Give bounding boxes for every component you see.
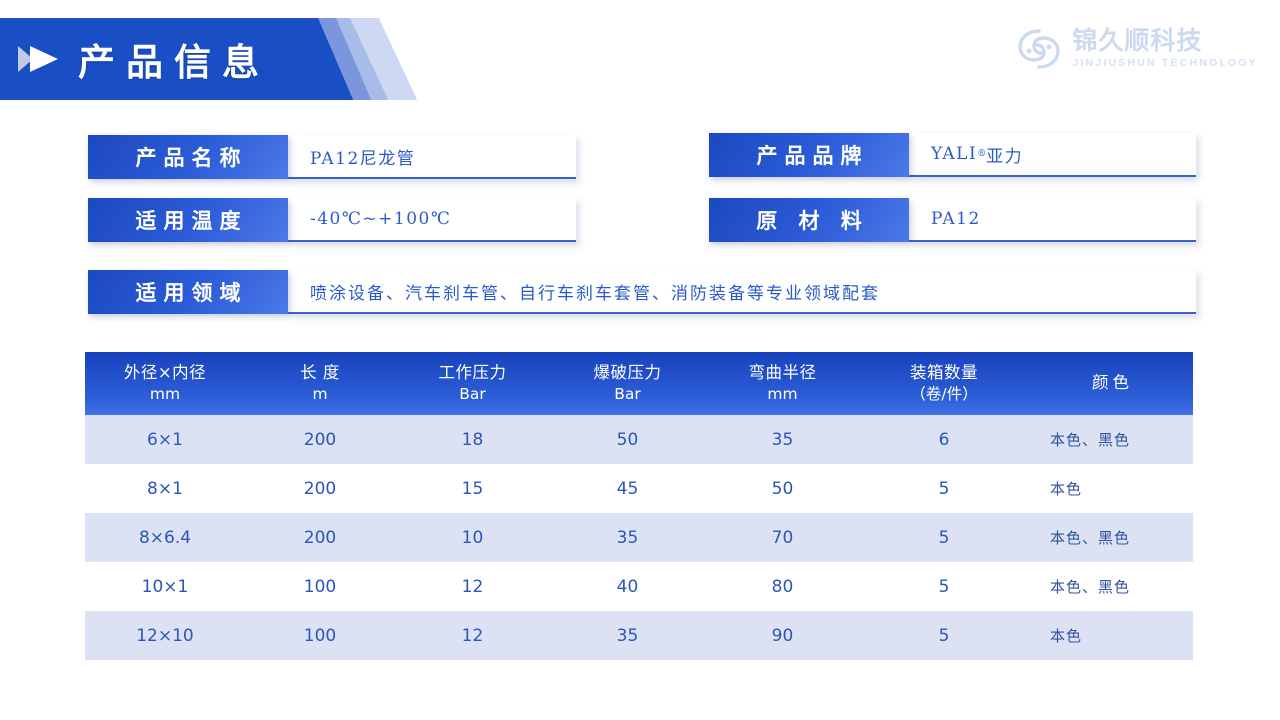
column-header-bend-radius: 弯曲半径 mm [705, 352, 860, 415]
column-header-unit: mm [85, 384, 245, 405]
cell-packing-quantity: 5 [860, 562, 1028, 611]
cell-packing-quantity: 5 [860, 611, 1028, 660]
company-logo: 锦久顺科技 JINJIUSHUN TECHNOLOGY [1016, 26, 1258, 72]
play-triangle-icon [16, 43, 64, 75]
cell-working-pressure: 12 [395, 611, 550, 660]
field-raw-material: 原 材 料 PA12 [709, 198, 1196, 242]
cell-color: 本色 [1028, 611, 1193, 660]
column-header-packing-quantity: 装箱数量 （卷/件） [860, 352, 1028, 415]
column-header-length: 长 度 m [245, 352, 395, 415]
table-header-row: 外径×内径 mm 长 度 m 工作压力 Bar 爆破压力 Bar 弯曲半径 mm… [85, 352, 1193, 415]
field-value-product-brand: YALI®亚力 [909, 133, 1196, 177]
column-header-color: 颜色 [1028, 352, 1193, 415]
column-header-unit: mm [705, 384, 860, 405]
column-header-working-pressure: 工作压力 Bar [395, 352, 550, 415]
specification-table: 外径×内径 mm 长 度 m 工作压力 Bar 爆破压力 Bar 弯曲半径 mm… [85, 352, 1193, 660]
cell-color: 本色、黑色 [1028, 415, 1193, 464]
cell-burst-pressure: 35 [550, 513, 705, 562]
table-header: 外径×内径 mm 长 度 m 工作压力 Bar 爆破压力 Bar 弯曲半径 mm… [85, 352, 1193, 415]
table-body: 6×1 200 18 50 35 6 本色、黑色 8×1 200 15 45 5… [85, 415, 1193, 660]
column-header-unit: m [245, 384, 395, 405]
cell-length: 200 [245, 415, 395, 464]
page-header-banner: 产品信息 [0, 18, 470, 100]
cell-length: 100 [245, 562, 395, 611]
logo-name-cn: 锦久顺科技 [1072, 27, 1258, 55]
cell-burst-pressure: 45 [550, 464, 705, 513]
cell-packing-quantity: 5 [860, 464, 1028, 513]
field-application-areas: 适用领域 喷涂设备、汽车刹车管、自行车刹车套管、消防装备等专业领域配套 [88, 270, 1196, 314]
field-label-operating-temperature: 适用温度 [88, 198, 288, 242]
field-label-product-name: 产品名称 [88, 135, 288, 179]
cell-packing-quantity: 5 [860, 513, 1028, 562]
cell-burst-pressure: 50 [550, 415, 705, 464]
cell-burst-pressure: 35 [550, 611, 705, 660]
logo-text-block: 锦久顺科技 JINJIUSHUN TECHNOLOGY [1072, 27, 1258, 70]
column-header-main: 弯曲半径 [705, 362, 860, 384]
cell-bend-radius: 90 [705, 611, 860, 660]
cell-bend-radius: 80 [705, 562, 860, 611]
column-header-burst-pressure: 爆破压力 Bar [550, 352, 705, 415]
column-header-unit: （卷/件） [860, 384, 1028, 405]
cell-color: 本色、黑色 [1028, 513, 1193, 562]
cell-bend-radius: 50 [705, 464, 860, 513]
cell-outer-inner-diameter: 8×6.4 [85, 513, 245, 562]
cell-outer-inner-diameter: 8×1 [85, 464, 245, 513]
field-label-product-brand: 产品品牌 [709, 133, 909, 177]
column-header-outer-inner-diameter: 外径×内径 mm [85, 352, 245, 415]
field-product-name: 产品名称 PA12尼龙管 [88, 135, 576, 179]
column-header-main: 颜色 [1028, 372, 1193, 394]
field-value-application-areas: 喷涂设备、汽车刹车管、自行车刹车套管、消防装备等专业领域配套 [288, 270, 1196, 314]
table-row: 6×1 200 18 50 35 6 本色、黑色 [85, 415, 1193, 464]
cell-working-pressure: 18 [395, 415, 550, 464]
field-label-application-areas: 适用领域 [88, 270, 288, 314]
table-row: 8×1 200 15 45 50 5 本色 [85, 464, 1193, 513]
cell-working-pressure: 15 [395, 464, 550, 513]
field-product-brand: 产品品牌 YALI®亚力 [709, 133, 1196, 177]
cell-bend-radius: 70 [705, 513, 860, 562]
column-header-unit: Bar [395, 384, 550, 405]
cell-length: 200 [245, 513, 395, 562]
column-header-main: 长 度 [245, 362, 395, 384]
field-value-raw-material: PA12 [909, 198, 1196, 242]
field-label-raw-material: 原 材 料 [709, 198, 909, 242]
column-header-main: 装箱数量 [860, 362, 1028, 384]
cell-burst-pressure: 40 [550, 562, 705, 611]
logo-circular-monogram-icon [1016, 26, 1062, 72]
page-title: 产品信息 [78, 32, 270, 86]
cell-packing-quantity: 6 [860, 415, 1028, 464]
header-content: 产品信息 [0, 18, 270, 100]
field-value-operating-temperature: -40℃~+100℃ [288, 198, 576, 242]
column-header-main: 工作压力 [395, 362, 550, 384]
cell-length: 100 [245, 611, 395, 660]
logo-name-en: JINJIUSHUN TECHNOLOGY [1072, 56, 1258, 71]
cell-bend-radius: 35 [705, 415, 860, 464]
cell-working-pressure: 12 [395, 562, 550, 611]
table-row: 8×6.4 200 10 35 70 5 本色、黑色 [85, 513, 1193, 562]
cell-working-pressure: 10 [395, 513, 550, 562]
cell-outer-inner-diameter: 10×1 [85, 562, 245, 611]
table-row: 12×10 100 12 35 90 5 本色 [85, 611, 1193, 660]
cell-color: 本色、黑色 [1028, 562, 1193, 611]
cell-color: 本色 [1028, 464, 1193, 513]
field-value-product-name: PA12尼龙管 [288, 135, 576, 179]
table-row: 10×1 100 12 40 80 5 本色、黑色 [85, 562, 1193, 611]
field-operating-temperature: 适用温度 -40℃~+100℃ [88, 198, 576, 242]
column-header-main: 外径×内径 [85, 362, 245, 384]
column-header-unit: Bar [550, 384, 705, 405]
cell-outer-inner-diameter: 6×1 [85, 415, 245, 464]
cell-outer-inner-diameter: 12×10 [85, 611, 245, 660]
column-header-main: 爆破压力 [550, 362, 705, 384]
cell-length: 200 [245, 464, 395, 513]
